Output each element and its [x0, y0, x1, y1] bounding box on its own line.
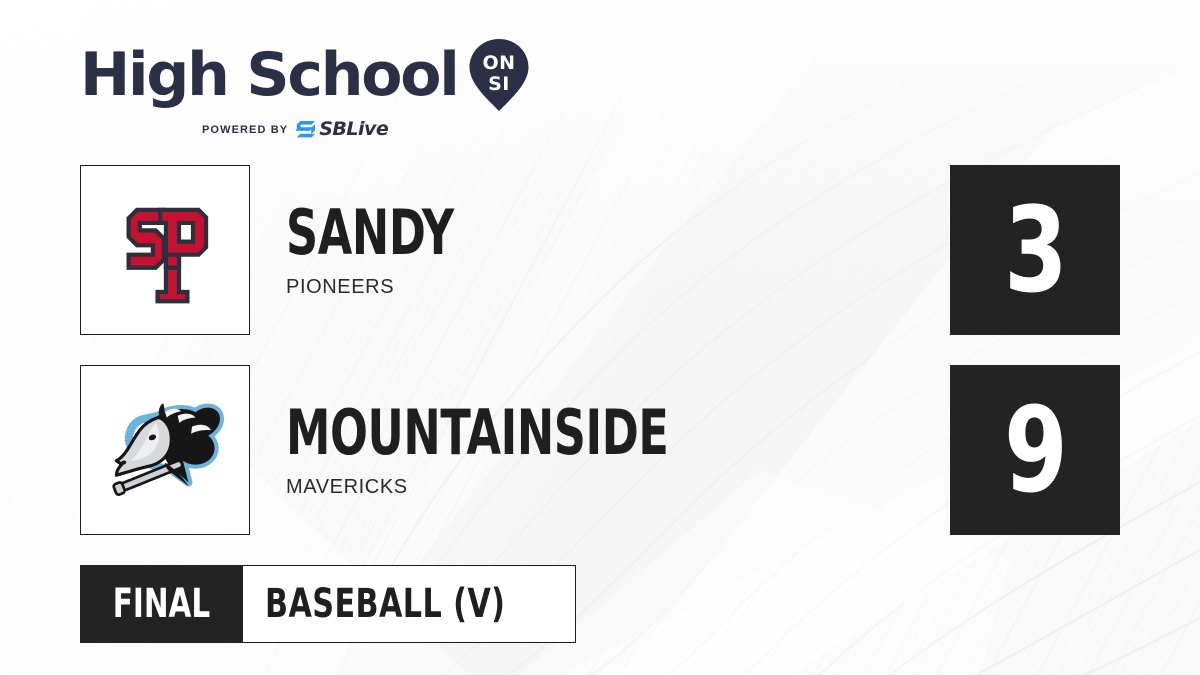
brand-wordmark: High School ON SI — [80, 38, 530, 114]
sandy-pioneers-sp-monogram-logo — [80, 165, 250, 335]
game-status-label: FINAL — [113, 584, 210, 624]
team-row: SANDY PIONEERS — [80, 165, 496, 335]
pin-line-2: SI — [488, 73, 510, 95]
team-mascot: PIONEERS — [286, 276, 496, 299]
score-value: 3 — [1004, 191, 1067, 309]
team-text-block: SANDY PIONEERS — [286, 202, 496, 299]
brand-title: High School — [80, 47, 458, 105]
sblive-word-bold: SBL — [319, 118, 358, 140]
score-box: 9 — [950, 365, 1120, 535]
sport-label: BASEBALL (V) — [265, 584, 505, 624]
pin-line-1: ON — [482, 52, 515, 74]
game-status-badge: FINAL — [80, 565, 243, 643]
brand-header: High School ON SI POWERED BY — [80, 38, 530, 139]
team-name: MOUNTAINSIDE — [286, 402, 668, 464]
status-bar: FINAL BASEBALL (V) — [80, 565, 576, 643]
mountainside-mavericks-horse-head-logo — [80, 365, 250, 535]
map-pin-icon: ON SI — [468, 38, 530, 112]
score-graphic: High School ON SI POWERED BY — [0, 0, 1200, 675]
sblive-word-italic: ive — [358, 118, 388, 140]
powered-by-lockup: POWERED BY SBLive — [80, 120, 530, 139]
sblive-s-mark-icon — [296, 121, 316, 138]
score-box: 3 — [950, 165, 1120, 335]
sport-label-box: BASEBALL (V) — [243, 565, 576, 643]
team-text-block: MOUNTAINSIDE MAVERICKS — [286, 402, 764, 499]
team-name: SANDY — [286, 202, 454, 264]
team-mascot: MAVERICKS — [286, 476, 764, 499]
team-row: MOUNTAINSIDE MAVERICKS — [80, 365, 764, 535]
powered-by-label: POWERED BY — [202, 124, 288, 136]
score-value: 9 — [1004, 391, 1067, 509]
sblive-logo: SBLive — [296, 120, 388, 139]
